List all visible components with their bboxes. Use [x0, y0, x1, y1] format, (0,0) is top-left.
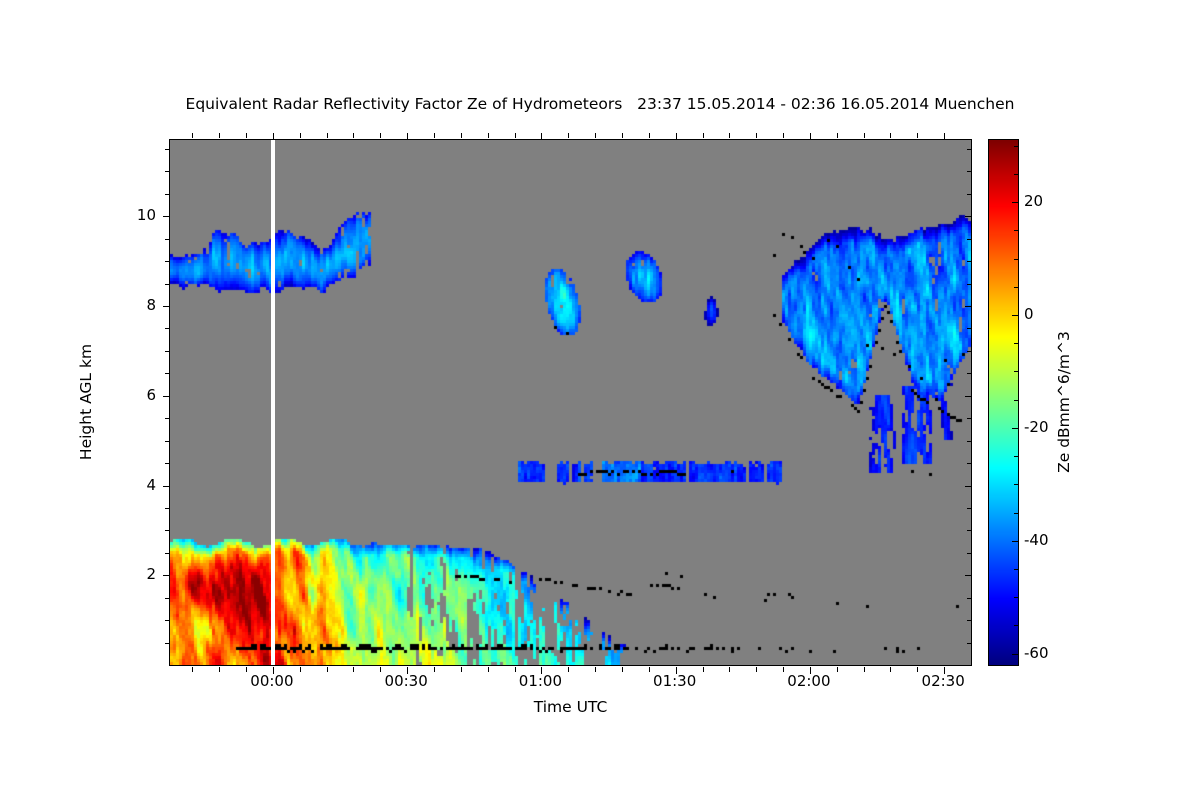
- x-tick-top-minor: [890, 133, 891, 138]
- day-boundary-line: [271, 140, 275, 665]
- y-tick-right-major: [965, 486, 972, 487]
- x-tick-minor: [353, 667, 354, 672]
- x-tick-top-minor: [488, 133, 489, 138]
- y-tick-minor: [165, 328, 170, 329]
- colorbar-title: Ze dBmm^6/m^3: [1055, 331, 1073, 473]
- y-tick-minor: [165, 373, 170, 374]
- y-tick-right-minor: [967, 351, 972, 352]
- y-tick-right-minor: [967, 194, 972, 195]
- x-tick-top-major: [944, 133, 945, 140]
- y-tick-major: [163, 575, 170, 576]
- y-tick-right-major: [965, 575, 972, 576]
- y-tick-minor: [165, 284, 170, 285]
- x-tick-minor: [729, 667, 730, 672]
- x-tick-minor: [434, 667, 435, 672]
- colorbar-tick-minor: [1014, 484, 1018, 485]
- y-tick-right-minor: [967, 598, 972, 599]
- x-tick-top-minor: [300, 133, 301, 138]
- y-tick-minor: [165, 508, 170, 509]
- x-tick-minor: [246, 667, 247, 672]
- y-tick-label: 2: [128, 565, 156, 583]
- y-tick-major: [163, 216, 170, 217]
- colorbar-tick-minor: [1014, 597, 1018, 598]
- y-tick-right-minor: [967, 261, 972, 262]
- colorbar-tick-label: 0: [1024, 305, 1034, 323]
- x-tick-minor: [890, 667, 891, 672]
- x-tick-minor: [595, 667, 596, 672]
- x-tick-minor: [756, 667, 757, 672]
- day-boundary-overlay: [170, 140, 971, 665]
- y-tick-right-minor: [967, 530, 972, 531]
- colorbar-tick-minor: [1014, 343, 1018, 344]
- x-tick-top-major: [273, 133, 274, 140]
- y-tick-major: [163, 396, 170, 397]
- y-tick-right-minor: [967, 149, 972, 150]
- x-tick-minor: [917, 667, 918, 672]
- x-tick-top-minor: [649, 133, 650, 138]
- y-tick-minor: [165, 441, 170, 442]
- y-tick-minor: [165, 553, 170, 554]
- x-tick-top-minor: [917, 133, 918, 138]
- x-tick-top-minor: [461, 133, 462, 138]
- y-tick-right-minor: [967, 328, 972, 329]
- y-tick-right-minor: [967, 284, 972, 285]
- x-tick-label: 00:30: [385, 672, 428, 690]
- y-tick-right-minor: [967, 418, 972, 419]
- y-tick-right-minor: [967, 508, 972, 509]
- x-tick-top-minor: [729, 133, 730, 138]
- x-tick-top-minor: [246, 133, 247, 138]
- x-tick-minor: [488, 667, 489, 672]
- x-tick-top-minor: [327, 133, 328, 138]
- colorbar-tick-label: -40: [1024, 531, 1049, 549]
- y-tick-minor: [165, 418, 170, 419]
- page-title: Equivalent Radar Reflectivity Factor Ze …: [0, 95, 1200, 113]
- x-axis-title: Time UTC: [169, 698, 972, 716]
- x-tick-minor: [783, 667, 784, 672]
- y-tick-minor: [165, 530, 170, 531]
- x-tick-label: 00:00: [250, 672, 293, 690]
- x-tick-top-minor: [515, 133, 516, 138]
- y-tick-right-minor: [967, 553, 972, 554]
- y-tick-right-minor: [967, 171, 972, 172]
- x-tick-label: 02:00: [787, 672, 830, 690]
- y-tick-minor: [165, 620, 170, 621]
- colorbar-tick-minor: [1014, 146, 1018, 147]
- x-tick-top-minor: [192, 133, 193, 138]
- colorbar-tick-minor: [1014, 371, 1018, 372]
- y-tick-minor: [165, 239, 170, 240]
- x-tick-minor: [568, 667, 569, 672]
- colorbar-tick-major: [1012, 315, 1018, 316]
- y-tick-label: 10: [128, 206, 156, 224]
- y-tick-major: [163, 486, 170, 487]
- x-tick-top-minor: [353, 133, 354, 138]
- x-tick-top-major: [810, 133, 811, 140]
- y-tick-major: [163, 306, 170, 307]
- colorbar-tick-minor: [1014, 174, 1018, 175]
- y-axis-title: Height AGL km: [77, 344, 95, 460]
- y-tick-right-major: [965, 216, 972, 217]
- x-tick-minor: [327, 667, 328, 672]
- colorbar-tick-label: -20: [1024, 418, 1049, 436]
- x-tick-label: 01:30: [653, 672, 696, 690]
- x-tick-minor: [192, 667, 193, 672]
- y-tick-minor: [165, 149, 170, 150]
- x-tick-minor: [649, 667, 650, 672]
- colorbar-tick-major: [1012, 202, 1018, 203]
- x-tick-minor: [461, 667, 462, 672]
- y-tick-label: 8: [128, 296, 156, 314]
- y-tick-right-major: [965, 306, 972, 307]
- colorbar-tick-minor: [1014, 569, 1018, 570]
- colorbar-tick-minor: [1014, 513, 1018, 514]
- x-tick-minor: [837, 667, 838, 672]
- x-tick-minor: [515, 667, 516, 672]
- colorbar-tick-minor: [1014, 625, 1018, 626]
- y-tick-right-minor: [967, 239, 972, 240]
- y-tick-right-minor: [967, 441, 972, 442]
- y-tick-right-minor: [967, 643, 972, 644]
- colorbar-tick-label: 20: [1024, 192, 1043, 210]
- x-tick-top-minor: [380, 133, 381, 138]
- y-tick-right-minor: [967, 620, 972, 621]
- plot-area[interactable]: [169, 139, 972, 666]
- colorbar-tick-label: -60: [1024, 644, 1049, 662]
- x-tick-top-minor: [434, 133, 435, 138]
- colorbar-tick-minor: [1014, 456, 1018, 457]
- y-tick-minor: [165, 463, 170, 464]
- x-tick-top-minor: [756, 133, 757, 138]
- y-tick-minor: [165, 643, 170, 644]
- x-tick-minor: [622, 667, 623, 672]
- x-tick-minor: [864, 667, 865, 672]
- x-tick-label: 02:30: [922, 672, 965, 690]
- y-tick-minor: [165, 351, 170, 352]
- radar-plot-page: Equivalent Radar Reflectivity Factor Ze …: [0, 0, 1200, 800]
- colorbar[interactable]: [988, 139, 1019, 666]
- x-tick-minor: [380, 667, 381, 672]
- x-tick-top-minor: [595, 133, 596, 138]
- y-tick-minor: [165, 261, 170, 262]
- y-tick-minor: [165, 171, 170, 172]
- colorbar-tick-major: [1012, 654, 1018, 655]
- colorbar-tick-minor: [1014, 287, 1018, 288]
- colorbar-tick-minor: [1014, 259, 1018, 260]
- x-tick-top-minor: [568, 133, 569, 138]
- x-tick-top-minor: [703, 133, 704, 138]
- colorbar-tick-major: [1012, 541, 1018, 542]
- x-tick-top-minor: [783, 133, 784, 138]
- y-tick-minor: [165, 598, 170, 599]
- y-tick-label: 6: [128, 386, 156, 404]
- x-tick-top-minor: [622, 133, 623, 138]
- x-tick-minor: [703, 667, 704, 672]
- x-tick-top-minor: [864, 133, 865, 138]
- x-tick-top-major: [676, 133, 677, 140]
- x-tick-top-major: [407, 133, 408, 140]
- colorbar-tick-minor: [1014, 400, 1018, 401]
- x-tick-top-major: [541, 133, 542, 140]
- y-tick-right-minor: [967, 463, 972, 464]
- colorbar-tick-minor: [1014, 230, 1018, 231]
- y-tick-label: 4: [128, 476, 156, 494]
- colorbar-tick-major: [1012, 428, 1018, 429]
- y-tick-minor: [165, 194, 170, 195]
- x-tick-top-minor: [219, 133, 220, 138]
- y-tick-right-minor: [967, 373, 972, 374]
- x-tick-top-minor: [837, 133, 838, 138]
- y-tick-right-major: [965, 396, 972, 397]
- x-tick-minor: [219, 667, 220, 672]
- x-tick-minor: [300, 667, 301, 672]
- colorbar-gradient: [989, 140, 1018, 665]
- x-tick-label: 01:00: [519, 672, 562, 690]
